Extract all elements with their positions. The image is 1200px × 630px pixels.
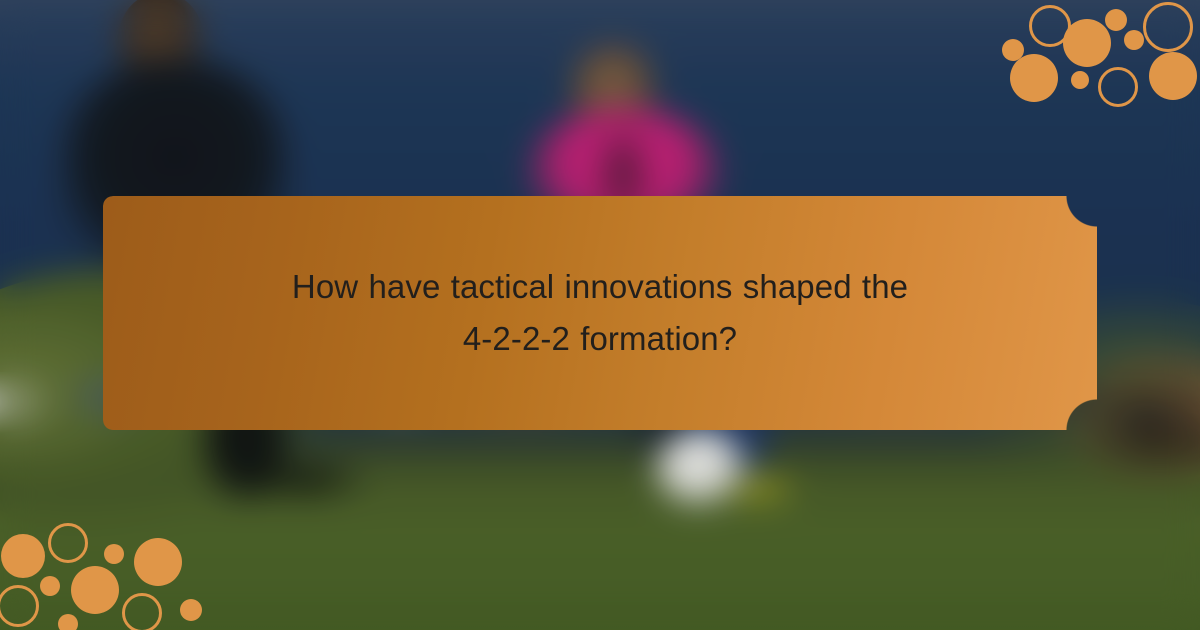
page-title-line-2: 4-2-2-2 formation?: [220, 313, 980, 365]
page-title: How have tactical innovations shaped the…: [220, 261, 980, 365]
headline-banner: How have tactical innovations shaped the…: [103, 196, 1097, 430]
share-card-canvas: How have tactical innovations shaped the…: [0, 0, 1200, 630]
banner-notch-top-right: [1064, 195, 1098, 229]
banner-notch-bottom-right: [1064, 397, 1098, 431]
page-title-line-1: How have tactical innovations shaped the: [220, 261, 980, 313]
